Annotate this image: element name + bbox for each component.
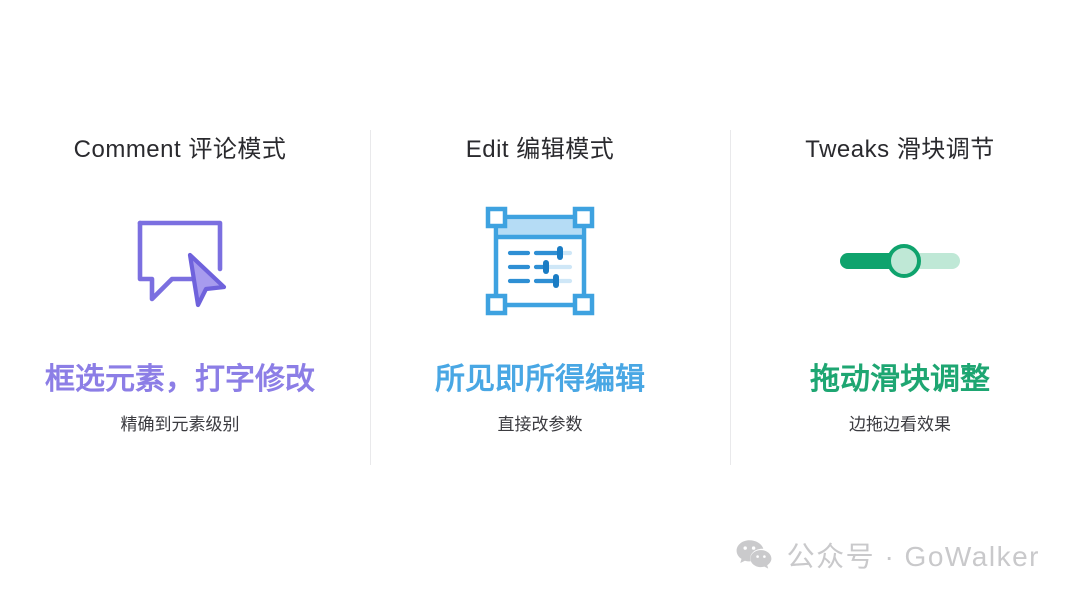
- column-caption-tweaks: 边拖边看效果: [849, 414, 951, 436]
- column-accent-comment: 框选元素，打字修改: [45, 361, 315, 399]
- column-caption-comment: 精确到元素级别: [121, 414, 240, 436]
- feature-column-tweaks: Tweaks 滑块调节 拖动滑块调整 边拖边看效果: [720, 110, 1080, 470]
- feature-columns: Comment 评论模式 框选元素，打字修改 精确到元素级别 Edit 编辑模式: [0, 110, 1080, 470]
- column-caption-edit: 直接改参数: [498, 414, 583, 436]
- slide-canvas: Comment 评论模式 框选元素，打字修改 精确到元素级别 Edit 编辑模式: [0, 0, 1080, 603]
- watermark-text: 公众号 · GoWalker: [787, 535, 1040, 575]
- icon-container-tweaks: [720, 201, 1080, 321]
- column-heading-comment: Comment 评论模式: [74, 136, 287, 165]
- icon-container-comment: [0, 201, 360, 321]
- slider-toggle-icon: [834, 237, 966, 285]
- watermark: 公众号 · GoWalker: [735, 535, 1040, 575]
- column-accent-edit: 所见即所得编辑: [435, 361, 645, 399]
- wechat-icon: [735, 538, 773, 572]
- feature-column-comment: Comment 评论模式 框选元素，打字修改 精确到元素级别: [0, 110, 360, 470]
- column-heading-tweaks: Tweaks 滑块调节: [805, 136, 995, 165]
- selection-frame-sliders-icon: [484, 205, 596, 317]
- column-accent-tweaks: 拖动滑块调整: [810, 361, 990, 399]
- icon-container-edit: [360, 201, 720, 321]
- column-heading-edit: Edit 编辑模式: [466, 136, 615, 165]
- feature-column-edit: Edit 编辑模式: [360, 110, 720, 470]
- comment-bubble-cursor-icon: [128, 209, 232, 313]
